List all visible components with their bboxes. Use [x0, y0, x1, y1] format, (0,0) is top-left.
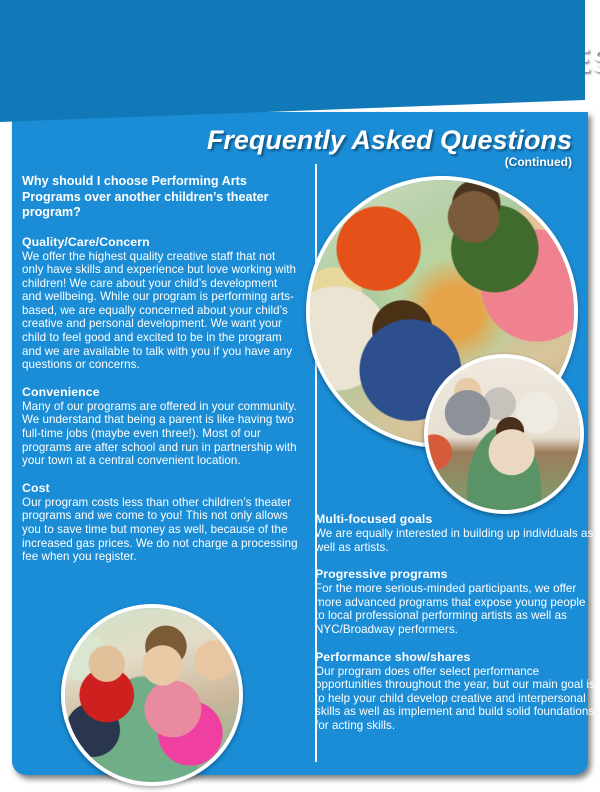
- section-body-cost: Our program costs less than other childr…: [22, 496, 299, 564]
- header-banner: [0, 0, 585, 122]
- faq-continued-label: (Continued): [207, 155, 572, 169]
- photo-image: [65, 608, 239, 782]
- section-heading-progressive-programs: Progressive programs: [315, 567, 595, 581]
- kids-crawling-on-rug-photo: [424, 354, 584, 514]
- faq-question: Why should I choose Performing Arts Prog…: [22, 174, 299, 221]
- section-body-convenience: Many of our programs are offered in your…: [22, 400, 299, 468]
- spacer: [315, 554, 595, 567]
- section-heading-convenience: Convenience: [22, 385, 299, 399]
- section-body-performance-show-shares: Our program does offer select performanc…: [315, 665, 595, 733]
- faq-heading-block: Frequently Asked Questions (Continued): [207, 126, 572, 169]
- right-column: Multi-focused goals We are equally inter…: [315, 512, 595, 733]
- photo-image: [428, 358, 580, 510]
- spacer: [22, 372, 299, 385]
- section-heading-multi-focused-goals: Multi-focused goals: [315, 512, 595, 526]
- spacer: [315, 637, 595, 650]
- flyer-page: FALL, WINTER, & SPRING CLASSES Frequentl…: [0, 0, 600, 792]
- section-body-multi-focused-goals: We are equally interested in building up…: [315, 527, 595, 554]
- section-body-progressive-programs: For the more serious-minded participants…: [315, 582, 595, 636]
- laughing-kids-on-rug-photo: [61, 604, 243, 786]
- faq-title: Frequently Asked Questions: [207, 126, 572, 154]
- spacer: [22, 468, 299, 481]
- section-heading-quality: Quality/Care/Concern: [22, 235, 299, 249]
- section-heading-cost: Cost: [22, 481, 299, 495]
- section-body-quality: We offer the highest quality creative st…: [22, 250, 299, 372]
- left-column: Why should I choose Performing Arts Prog…: [22, 174, 299, 564]
- section-heading-performance-show-shares: Performance show/shares: [315, 650, 595, 664]
